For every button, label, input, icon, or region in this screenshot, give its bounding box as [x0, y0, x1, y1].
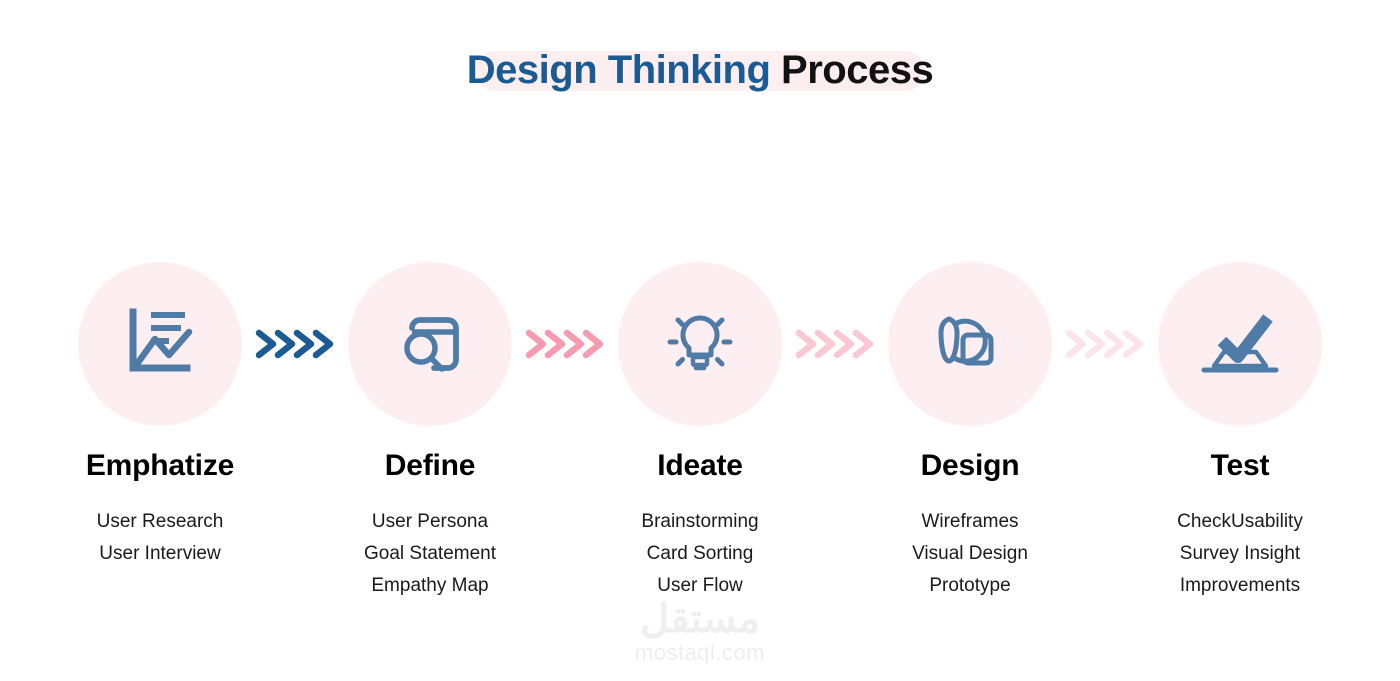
step-circle-emphatize[interactable] [78, 262, 242, 426]
step-circle-define[interactable] [348, 262, 512, 426]
arrow-ideate-to-design [782, 262, 888, 426]
process-flow-row [0, 262, 1400, 442]
list-item: User Persona [348, 506, 512, 538]
list-item: CheckUsability [1158, 506, 1322, 538]
window-search-icon [394, 306, 466, 383]
step-label-ideate: Ideate Brainstorming Card Sorting User F… [618, 448, 782, 602]
step-items-test: CheckUsability Survey Insight Improvemen… [1158, 506, 1322, 602]
lightbulb-icon [662, 304, 738, 385]
list-item: Survey Insight [1158, 538, 1322, 570]
list-item: Goal Statement [348, 538, 512, 570]
list-item: Brainstorming [618, 506, 782, 538]
title-accent-text: Design Thinking [467, 48, 771, 92]
step-items-define: User Persona Goal Statement Empathy Map [348, 506, 512, 602]
page-title: Design Thinking Process [0, 38, 1400, 102]
step-name-emphatize: Emphatize [78, 448, 242, 484]
step-name-ideate: Ideate [618, 448, 782, 484]
list-item: Prototype [888, 570, 1052, 602]
list-item: Card Sorting [618, 538, 782, 570]
arrow-define-to-ideate [512, 262, 618, 426]
step-name-define: Define [348, 448, 512, 484]
list-item: Improvements [1158, 570, 1322, 602]
arrow-design-to-test [1052, 262, 1158, 426]
checkmark-platform-icon [1200, 310, 1280, 379]
step-circle-design[interactable] [888, 262, 1052, 426]
list-item: User Flow [618, 570, 782, 602]
step-label-define: Define User Persona Goal Statement Empat… [348, 448, 512, 602]
watermark-latin: mostaql.com [0, 640, 1400, 666]
chart-report-icon [125, 306, 195, 383]
label-spacer [1052, 448, 1158, 602]
watermark: مستقل mostaql.com [0, 598, 1400, 666]
step-items-ideate: Brainstorming Card Sorting User Flow [618, 506, 782, 602]
list-item: Empathy Map [348, 570, 512, 602]
list-item: User Interview [78, 538, 242, 570]
label-spacer [242, 448, 348, 602]
step-items-design: Wireframes Visual Design Prototype [888, 506, 1052, 602]
step-items-emphatize: User Research User Interview [78, 506, 242, 570]
process-labels-row: Emphatize User Research User Interview D… [0, 448, 1400, 602]
step-label-emphatize: Emphatize User Research User Interview [78, 448, 242, 602]
list-item: Wireframes [888, 506, 1052, 538]
label-spacer [782, 448, 888, 602]
step-circle-ideate[interactable] [618, 262, 782, 426]
watermark-arabic: مستقل [0, 598, 1400, 640]
list-item: Visual Design [888, 538, 1052, 570]
label-spacer [512, 448, 618, 602]
step-label-test: Test CheckUsability Survey Insight Impro… [1158, 448, 1322, 602]
step-circle-test[interactable] [1158, 262, 1322, 426]
step-name-design: Design [888, 448, 1052, 484]
list-item: User Research [78, 506, 242, 538]
title-plain-text: Process [770, 48, 933, 92]
brush-shapes-icon [933, 305, 1007, 384]
arrow-emphatize-to-define [242, 262, 348, 426]
step-name-test: Test [1158, 448, 1322, 484]
step-label-design: Design Wireframes Visual Design Prototyp… [888, 448, 1052, 602]
